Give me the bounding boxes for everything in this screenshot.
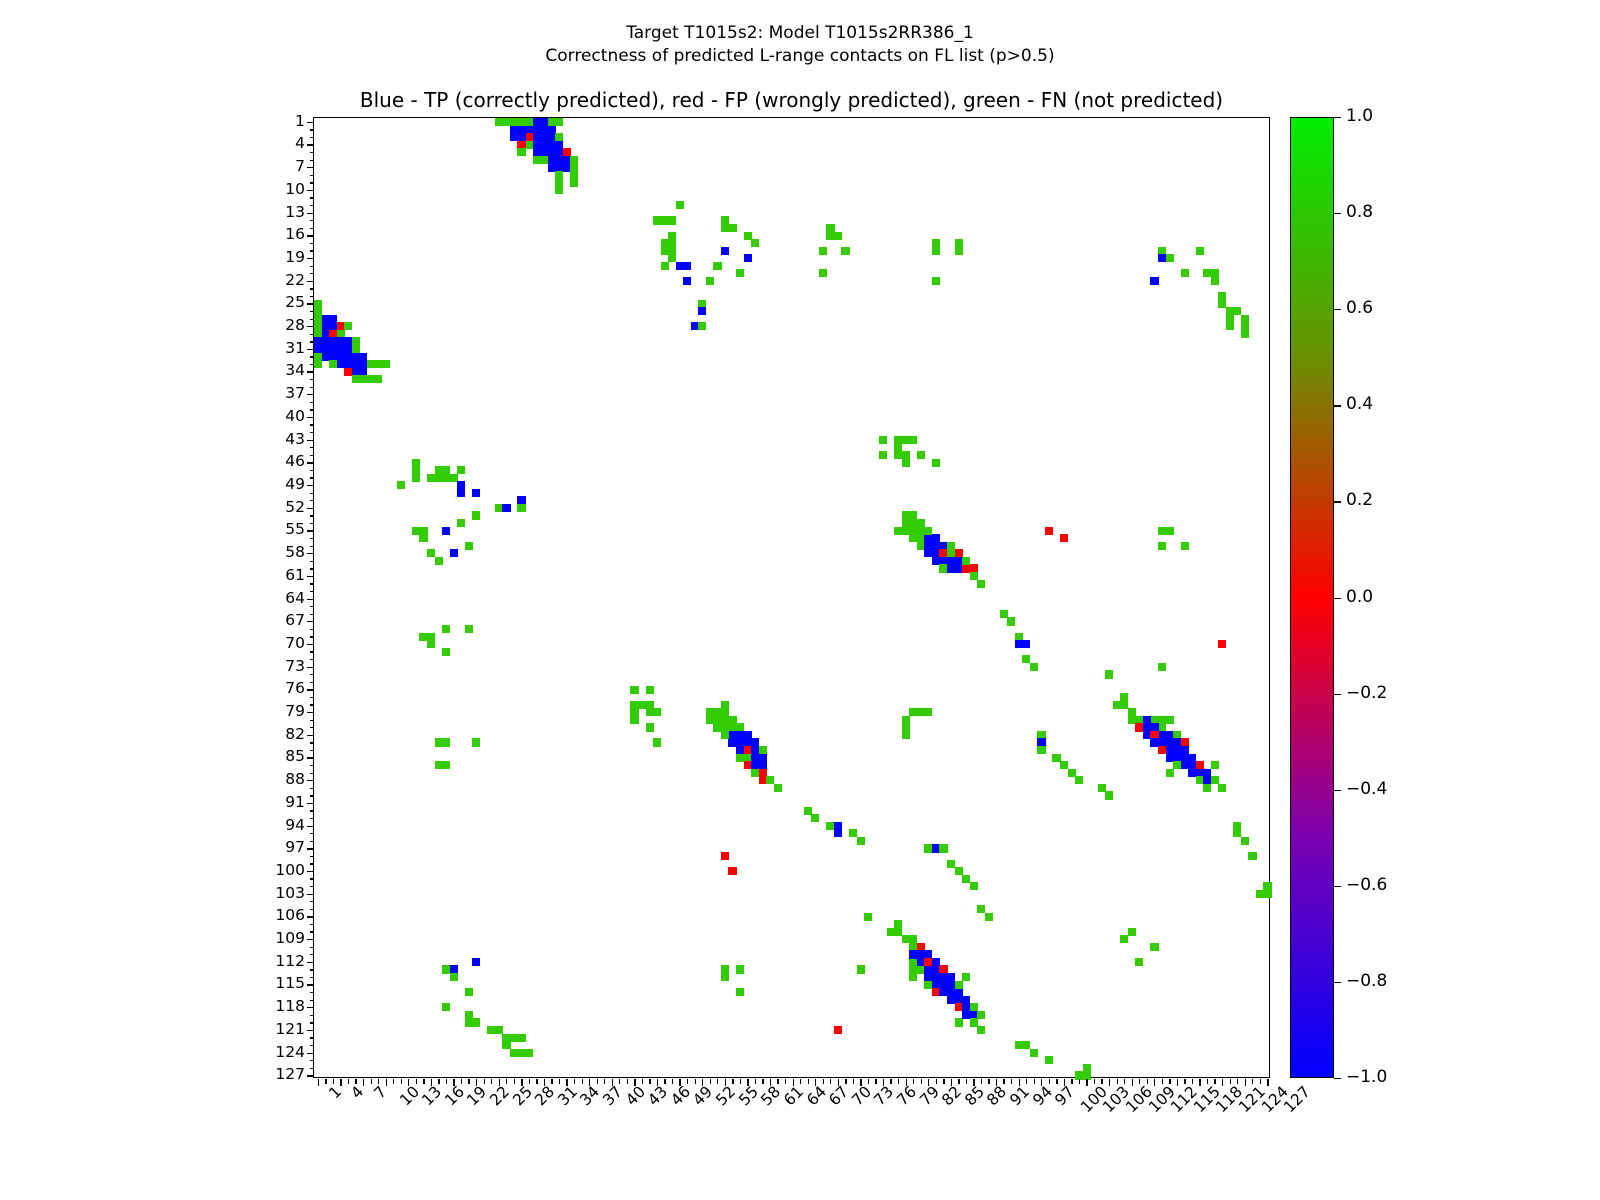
x-axis-tick-label: 4 (349, 1084, 367, 1102)
contact-cell (1045, 1056, 1053, 1064)
contact-cell (1166, 527, 1174, 535)
y-axis-tick (310, 969, 315, 970)
colorbar-tick (1334, 1078, 1341, 1079)
figure-suptitle: Target T1015s2: Model T1015s2RR386_1 Cor… (0, 22, 1600, 68)
y-axis-tick (310, 810, 315, 811)
colorbar-tick (1334, 309, 1341, 310)
y-axis-tick (307, 167, 314, 168)
y-axis-tick (307, 1030, 314, 1031)
y-axis-tick (310, 954, 315, 955)
y-axis-tick (310, 561, 315, 562)
y-axis-tick-label: 85 (259, 749, 305, 765)
y-axis-tick (310, 197, 315, 198)
contact-cell (442, 625, 450, 633)
contact-cell (744, 254, 752, 262)
y-axis-tick (310, 674, 315, 675)
y-axis-tick (307, 576, 314, 577)
contact-cell (698, 322, 706, 330)
y-axis-tick (310, 773, 315, 774)
y-axis-tick (307, 757, 314, 758)
contact-cell (706, 277, 714, 285)
y-axis-labels: 1471013161922252831343740434649525558616… (255, 117, 305, 1078)
x-axis-labels: 1471013161922252831343740434649525558616… (313, 1078, 1293, 1168)
contact-cell (442, 1003, 450, 1011)
y-axis-tick-label: 106 (259, 908, 305, 924)
y-axis-tick (307, 190, 314, 191)
y-axis-tick-label: 73 (259, 659, 305, 675)
contact-cell (646, 686, 654, 694)
y-axis-tick (310, 364, 315, 365)
contact-cell (442, 761, 450, 769)
y-axis-tick (310, 795, 315, 796)
contact-cell (472, 489, 480, 497)
colorbar-tick-label: −0.8 (1346, 973, 1387, 990)
contact-cell (1105, 670, 1113, 678)
y-axis-tick (307, 644, 314, 645)
y-axis-tick-label: 46 (259, 454, 305, 470)
y-axis-tick (310, 402, 315, 403)
contact-cell (917, 451, 925, 459)
y-axis-tick (310, 1037, 315, 1038)
contact-map-cells (314, 118, 1269, 1077)
y-axis-tick (310, 409, 315, 410)
contact-cell (427, 474, 435, 482)
y-axis-tick-label: 61 (259, 568, 305, 584)
contact-cell (1150, 943, 1158, 951)
contact-cell (879, 451, 887, 459)
contact-cell (374, 375, 382, 383)
contact-cell (721, 247, 729, 255)
contact-cell (721, 731, 729, 739)
y-axis-tick (310, 750, 315, 751)
y-axis-tick (310, 727, 315, 728)
y-axis-tick (307, 553, 314, 554)
contact-cell (766, 776, 774, 784)
colorbar-tick (1334, 501, 1341, 502)
contact-cell (1158, 542, 1166, 550)
y-axis-tick (307, 371, 314, 372)
contact-cell (955, 1018, 963, 1026)
y-axis-tick (310, 243, 315, 244)
y-axis-tick (307, 281, 314, 282)
y-axis-tick-label: 76 (259, 681, 305, 697)
y-axis-tick-label: 1 (259, 114, 305, 130)
suptitle-line-1: Target T1015s2: Model T1015s2RR386_1 (0, 22, 1600, 45)
contact-cell (774, 784, 782, 792)
contact-cell (713, 262, 721, 270)
contact-cell (668, 232, 676, 240)
y-axis-tick (310, 273, 315, 274)
contact-cell (977, 1011, 985, 1019)
y-axis-tick (310, 909, 315, 910)
axes-title: Blue - TP (correctly predicted), red - F… (313, 88, 1270, 112)
colorbar-tick-label: −1.0 (1346, 1069, 1387, 1086)
y-axis-tick (310, 1068, 315, 1069)
contact-cell (683, 262, 691, 270)
contact-cell (736, 988, 744, 996)
contact-cell (1181, 269, 1189, 277)
y-axis-tick (310, 500, 315, 501)
y-axis-tick-label: 13 (259, 205, 305, 221)
contact-cell (1248, 852, 1256, 860)
y-axis-tick (310, 636, 315, 637)
y-axis-tick (310, 447, 315, 448)
contact-cell (1007, 617, 1015, 625)
colorbar-tick-label: 0.4 (1346, 396, 1373, 413)
colorbar-tick (1334, 694, 1341, 695)
contact-map-plot[interactable] (313, 117, 1270, 1078)
y-axis-tick-label: 4 (259, 136, 305, 152)
y-axis-tick-label: 28 (259, 318, 305, 334)
y-axis-tick (310, 901, 315, 902)
contact-cell (517, 148, 525, 156)
contact-cell (382, 360, 390, 368)
contact-cell (517, 1034, 525, 1042)
contact-cell (668, 216, 676, 224)
y-axis-tick (310, 175, 315, 176)
y-axis-tick (307, 462, 314, 463)
y-axis-tick (310, 992, 315, 993)
contact-cell (736, 754, 744, 762)
y-axis-tick-label: 40 (259, 409, 305, 425)
y-axis-tick (310, 288, 315, 289)
y-axis-tick (310, 924, 315, 925)
contact-cell (1218, 784, 1226, 792)
contact-cell (1241, 837, 1249, 845)
y-axis-tick (310, 1015, 315, 1016)
contact-cell (1166, 769, 1174, 777)
y-axis-tick (310, 606, 315, 607)
contact-cell (412, 459, 420, 467)
y-axis-tick (307, 871, 314, 872)
contact-cell (1075, 776, 1083, 784)
contact-cell (570, 179, 578, 187)
y-axis-tick (310, 863, 315, 864)
y-axis-tick (310, 152, 315, 153)
contact-cell (1166, 254, 1174, 262)
colorbar-tick-label: −0.6 (1346, 877, 1387, 894)
y-axis-tick (307, 1053, 314, 1054)
y-axis-tick-label: 88 (259, 772, 305, 788)
contact-cell (442, 648, 450, 656)
contact-cell (1218, 640, 1226, 648)
contact-cell (419, 534, 427, 542)
contact-cell (1150, 277, 1158, 285)
y-axis-tick (307, 780, 314, 781)
contact-cell (450, 549, 458, 557)
colorbar-gradient (1291, 118, 1333, 1077)
colorbar-tick (1334, 598, 1341, 599)
y-axis-tick (307, 599, 314, 600)
contact-cell (465, 988, 473, 996)
y-axis-tick-label: 127 (259, 1067, 305, 1083)
y-axis-tick (307, 144, 314, 145)
colorbar-tick-label: 0.6 (1346, 300, 1373, 317)
y-axis-tick (307, 962, 314, 963)
y-axis-tick-label: 109 (259, 931, 305, 947)
contact-cell (1158, 663, 1166, 671)
contact-cell (879, 436, 887, 444)
contact-cell (1173, 761, 1181, 769)
y-axis-tick (310, 886, 315, 887)
contact-cell (465, 625, 473, 633)
contact-cell (1105, 791, 1113, 799)
y-axis-tick (310, 387, 315, 388)
contact-cell (834, 1026, 842, 1034)
y-axis-tick (307, 826, 314, 827)
contact-cell (728, 224, 736, 232)
contact-cell (352, 337, 360, 345)
y-axis-tick (310, 250, 315, 251)
contact-cell (412, 474, 420, 482)
contact-cell (630, 716, 638, 724)
contact-cell (1030, 663, 1038, 671)
y-axis-tick-label: 121 (259, 1022, 305, 1038)
y-axis-tick (307, 848, 314, 849)
contact-cell (1045, 527, 1053, 535)
y-axis-tick (310, 538, 315, 539)
y-axis-tick (310, 682, 315, 683)
y-axis-tick (307, 122, 314, 123)
y-axis-tick (310, 341, 315, 342)
y-axis-tick (307, 1075, 314, 1076)
contact-cell (653, 708, 661, 716)
y-axis-tick-label: 55 (259, 522, 305, 538)
contact-cell (1030, 1049, 1038, 1057)
contact-cell (864, 913, 872, 921)
y-axis-tick-label: 52 (259, 500, 305, 516)
y-axis-tick (310, 614, 315, 615)
contact-cell (721, 973, 729, 981)
contact-cell (1022, 640, 1030, 648)
y-axis-tick (307, 258, 314, 259)
y-axis-tick (307, 213, 314, 214)
y-axis-tick-label: 91 (259, 795, 305, 811)
contact-cell (502, 504, 510, 512)
y-axis-tick-label: 16 (259, 227, 305, 243)
y-axis-tick (307, 508, 314, 509)
y-axis-tick (310, 477, 315, 478)
y-axis-tick-label: 79 (259, 704, 305, 720)
y-axis-tick (310, 1060, 315, 1061)
contact-cell (442, 527, 450, 535)
x-axis-tick-label: 127 (1282, 1084, 1314, 1116)
contact-cell (1211, 277, 1219, 285)
contact-cell (1196, 247, 1204, 255)
y-axis-tick (307, 485, 314, 486)
contact-cell (630, 686, 638, 694)
contact-cell (1181, 542, 1189, 550)
y-axis-tick (310, 319, 315, 320)
contact-cell (1120, 935, 1128, 943)
colorbar-tick-label: −0.4 (1346, 781, 1387, 798)
y-axis-tick (310, 137, 315, 138)
y-axis-tick-label: 100 (259, 863, 305, 879)
y-axis-tick (307, 984, 314, 985)
y-axis-tick-label: 118 (259, 999, 305, 1015)
y-axis-tick (307, 326, 314, 327)
colorbar-tick-label: 0.0 (1346, 589, 1373, 606)
y-axis-tick (307, 689, 314, 690)
colorbar-tick (1334, 790, 1341, 791)
y-axis-tick (307, 349, 314, 350)
contact-cell (653, 216, 661, 224)
y-axis-tick (307, 621, 314, 622)
y-axis-tick (310, 651, 315, 652)
y-axis-tick (310, 591, 315, 592)
contact-cell (661, 262, 669, 270)
contact-cell (457, 489, 465, 497)
y-axis-tick (307, 712, 314, 713)
contact-cell (970, 572, 978, 580)
contact-cell (1150, 738, 1158, 746)
y-axis-tick (310, 455, 315, 456)
colorbar (1290, 117, 1334, 1078)
y-axis-tick (307, 916, 314, 917)
contact-cell (457, 519, 465, 527)
y-axis-tick-label: 31 (259, 341, 305, 357)
y-axis-tick (310, 659, 315, 660)
colorbar-tick-label: 0.8 (1346, 204, 1373, 221)
colorbar-tick-label: 0.2 (1346, 492, 1373, 509)
y-axis-tick-label: 19 (259, 250, 305, 266)
contact-cell (947, 542, 955, 550)
colorbar-tick (1334, 117, 1341, 118)
y-axis-tick (310, 629, 315, 630)
contact-cell (1135, 958, 1143, 966)
colorbar-tick-label: −0.2 (1346, 685, 1387, 702)
colorbar-tick (1334, 886, 1341, 887)
contact-cell (1211, 761, 1219, 769)
figure-root: Target T1015s2: Model T1015s2RR386_1 Cor… (0, 0, 1600, 1200)
contact-cell (314, 360, 322, 368)
contact-cell (932, 459, 940, 467)
colorbar-tick (1334, 982, 1341, 983)
y-axis-tick (310, 1022, 315, 1023)
contact-cell (721, 965, 729, 973)
y-axis-tick (310, 947, 315, 948)
contact-cell (909, 436, 917, 444)
x-axis-tick-label: 7 (372, 1084, 390, 1102)
y-axis-tick (310, 765, 315, 766)
y-axis-tick-label: 10 (259, 182, 305, 198)
contact-cell (924, 708, 932, 716)
contact-cell (841, 247, 849, 255)
contact-cell (932, 247, 940, 255)
contact-cell (955, 247, 963, 255)
contact-cell (653, 738, 661, 746)
y-axis-tick (310, 568, 315, 569)
y-axis-tick (310, 182, 315, 183)
contact-cell (736, 965, 744, 973)
contact-cell (533, 156, 541, 164)
y-axis-tick (310, 742, 315, 743)
contact-cell (1158, 527, 1166, 535)
y-axis-tick (310, 515, 315, 516)
contact-cell (932, 958, 940, 966)
contact-cell (517, 504, 525, 512)
y-axis-tick-label: 94 (259, 818, 305, 834)
contact-cell (985, 913, 993, 921)
y-axis-tick (307, 894, 314, 895)
colorbar-tick-label: 1.0 (1346, 108, 1373, 125)
contact-cell (1037, 746, 1045, 754)
colorbar-tick (1334, 405, 1341, 406)
contact-cell (819, 269, 827, 277)
contact-cell (435, 557, 443, 565)
y-axis-tick (310, 266, 315, 267)
y-axis-tick (310, 493, 315, 494)
contact-cell (932, 277, 940, 285)
contact-cell (902, 459, 910, 467)
contact-cell (1263, 890, 1271, 898)
y-axis-tick (310, 523, 315, 524)
contact-cell (962, 973, 970, 981)
contact-cell (736, 269, 744, 277)
contact-cell (1128, 928, 1136, 936)
y-axis-tick (307, 303, 314, 304)
contact-cell (457, 466, 465, 474)
x-axis-tick-label: 1 (327, 1084, 345, 1102)
y-axis-tick (310, 1000, 315, 1001)
contact-cell (721, 852, 729, 860)
contact-cell (1241, 330, 1249, 338)
suptitle-line-2: Correctness of predicted L-range contact… (0, 45, 1600, 68)
y-axis-tick-label: 58 (259, 545, 305, 561)
contact-cell (676, 201, 684, 209)
colorbar-ticklabels: 1.00.80.60.40.20.0−0.2−0.4−0.6−0.8−1.0 (1334, 117, 1454, 1078)
contact-cell (472, 511, 480, 519)
contact-cell (939, 844, 947, 852)
contact-cell (1226, 322, 1234, 330)
y-axis-tick (307, 235, 314, 236)
contact-cell (819, 247, 827, 255)
y-axis-tick (307, 667, 314, 668)
y-axis-tick (307, 417, 314, 418)
y-axis-tick (307, 939, 314, 940)
y-axis-tick (310, 296, 315, 297)
y-axis-tick-label: 103 (259, 886, 305, 902)
y-axis-tick (310, 379, 315, 380)
contact-cell (344, 322, 352, 330)
y-axis-tick (310, 878, 315, 879)
contact-cell (472, 1018, 480, 1026)
y-axis-tick (310, 334, 315, 335)
y-axis-tick (310, 788, 315, 789)
y-axis-tick (307, 1007, 314, 1008)
y-axis-tick (310, 704, 315, 705)
x-axis-tick-label: 97 (1053, 1084, 1078, 1109)
y-axis-tick (310, 205, 315, 206)
y-axis-tick (307, 803, 314, 804)
y-axis-tick-label: 67 (259, 613, 305, 629)
contact-cell (442, 738, 450, 746)
y-axis-tick-label: 124 (259, 1045, 305, 1061)
y-axis-tick-label: 97 (259, 840, 305, 856)
y-axis-tick (310, 856, 315, 857)
y-axis-tick-label: 112 (259, 954, 305, 970)
y-axis-tick (310, 583, 315, 584)
y-axis-tick (310, 311, 315, 312)
contact-cell (902, 731, 910, 739)
y-axis-tick (310, 220, 315, 221)
contact-cell (450, 973, 458, 981)
y-axis-tick-label: 70 (259, 636, 305, 652)
contact-cell (834, 829, 842, 837)
contact-cell (977, 1026, 985, 1034)
y-axis-tick (310, 356, 315, 357)
y-axis-tick (310, 977, 315, 978)
